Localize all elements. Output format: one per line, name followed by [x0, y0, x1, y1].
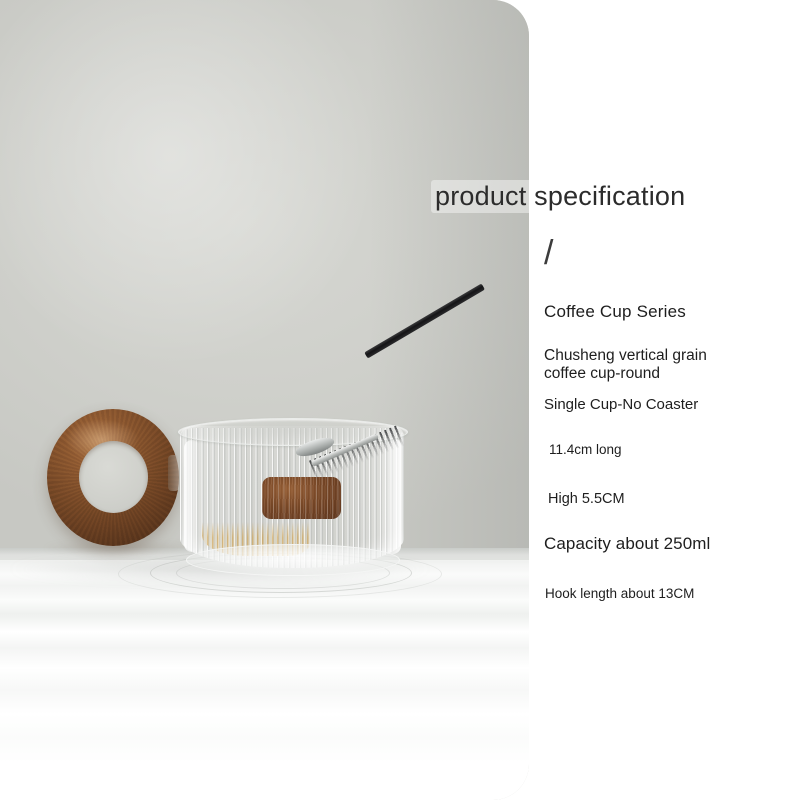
spec-series: Coffee Cup Series: [544, 302, 686, 322]
cup-left-highlight: [184, 440, 200, 552]
wooden-ring-handle: [47, 409, 179, 546]
page-title: product specification: [431, 180, 689, 213]
cup-base: [186, 544, 400, 576]
wooden-ring-hole: [79, 441, 148, 513]
spec-configuration: Single Cup-No Coaster: [544, 396, 698, 413]
spec-product-name: Chusheng vertical grain coffee cup-round: [544, 347, 707, 383]
spec-height: High 5.5CM: [548, 491, 625, 507]
product-specification-page: product specification / Coffee Cup Serie…: [0, 0, 800, 800]
spec-capacity: Capacity about 250ml: [544, 534, 710, 554]
spec-hook-length: Hook length about 13CM: [545, 586, 694, 601]
wooden-block-accent: [262, 477, 341, 519]
cup-right-highlight: [381, 438, 401, 554]
spec-length: 11.4cm long: [549, 442, 622, 457]
wooden-block-glass-veil: [262, 477, 341, 519]
product-photo: [0, 0, 529, 800]
backdrop-light-glow: [0, 0, 380, 370]
title-divider-slash: /: [544, 236, 553, 270]
